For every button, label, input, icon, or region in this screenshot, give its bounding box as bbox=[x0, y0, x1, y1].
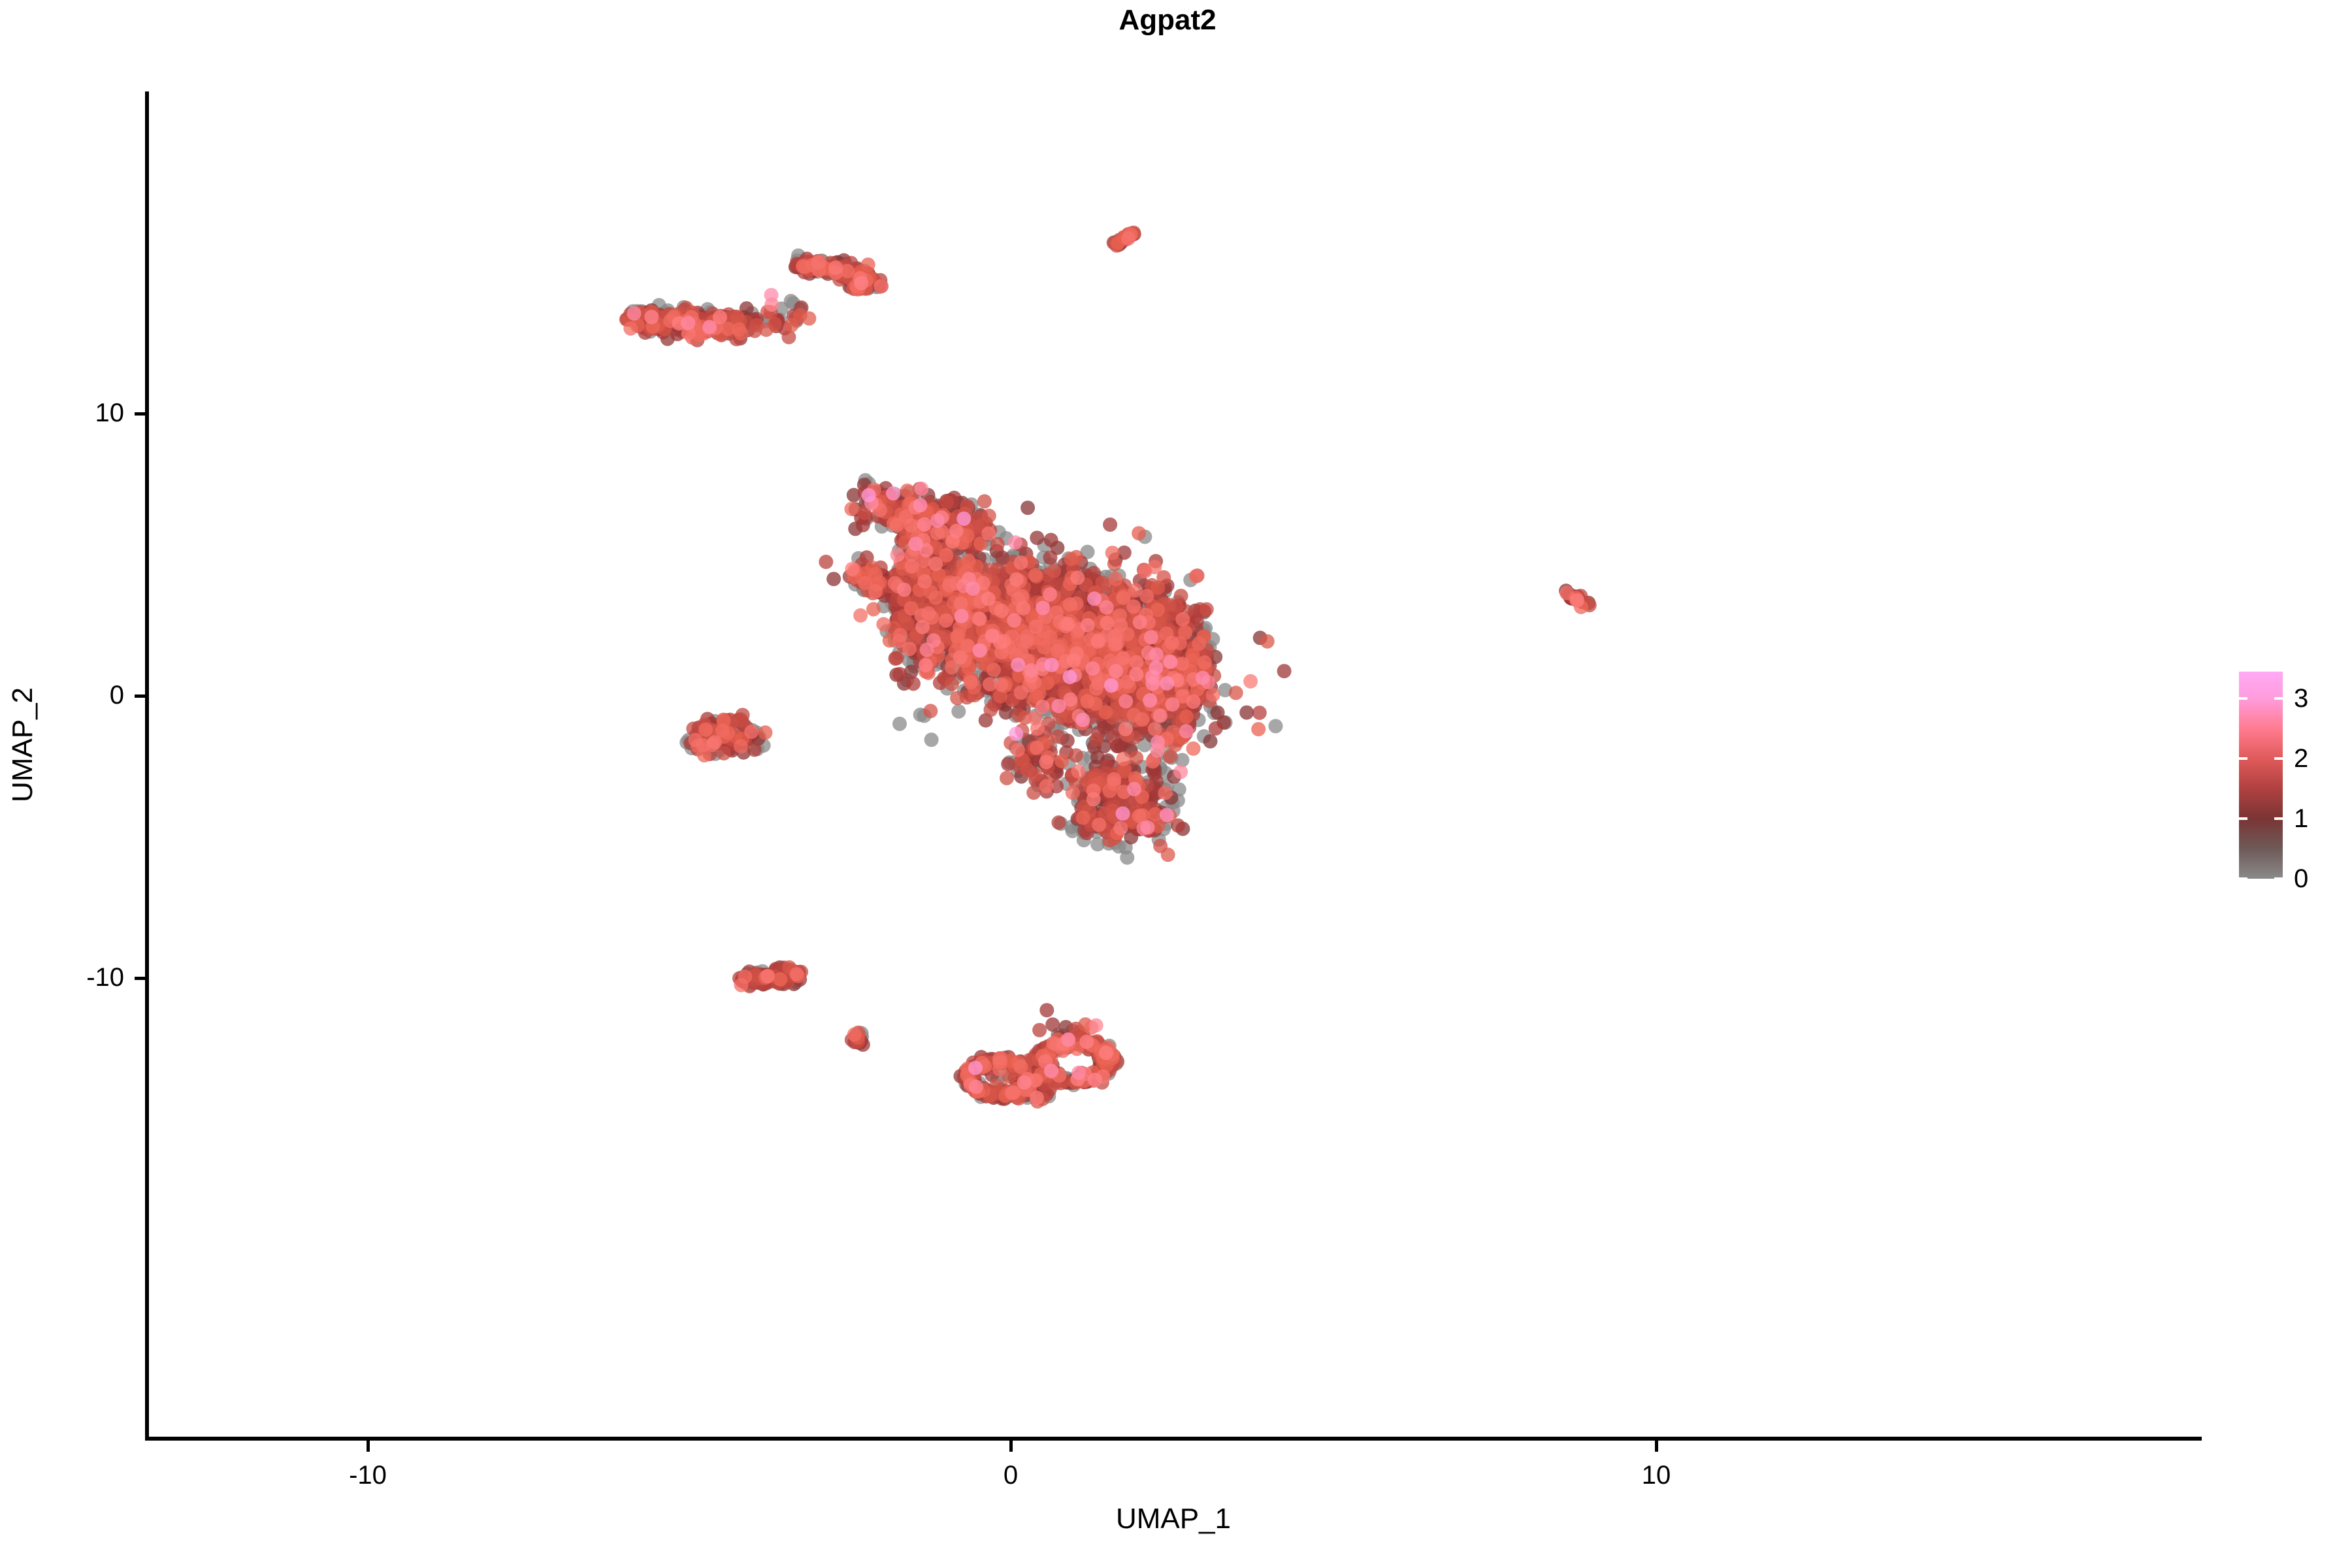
y-tick-mark-neg10 bbox=[135, 977, 146, 980]
y-axis-line bbox=[145, 91, 149, 1440]
colorbar-tick-3 bbox=[2239, 697, 2247, 700]
x-tick-label-10: 10 bbox=[1591, 1461, 1722, 1490]
scatter-points bbox=[149, 39, 2200, 1437]
x-tick-mark-neg10 bbox=[367, 1440, 370, 1452]
x-tick-mark-0 bbox=[1009, 1440, 1013, 1452]
x-tick-label-0: 0 bbox=[945, 1461, 1076, 1490]
colorbar-label-3: 3 bbox=[2294, 685, 2308, 711]
colorbar-tick-0 bbox=[2274, 877, 2283, 880]
colorbar-tick-2 bbox=[2274, 757, 2283, 760]
page-title: Agpat2 bbox=[0, 4, 2344, 37]
colorbar-legend[interactable]: 3210 bbox=[2239, 672, 2283, 879]
colorbar-tick-2 bbox=[2239, 757, 2247, 760]
plot-panel[interactable] bbox=[149, 39, 2200, 1437]
x-axis-title: UMAP_1 bbox=[145, 1503, 2202, 1535]
y-tick-label-neg10: -10 bbox=[13, 963, 124, 992]
y-axis-title: UMAP_2 bbox=[7, 549, 39, 941]
x-tick-mark-10 bbox=[1655, 1440, 1658, 1452]
colorbar-tick-1 bbox=[2239, 817, 2247, 820]
colorbar-label-2: 2 bbox=[2294, 745, 2308, 772]
umap-feature-plot: Agpat2 10 0 -10 -10 0 10 UMAP_1 UMAP_2 3… bbox=[0, 0, 2352, 1568]
x-axis-line bbox=[145, 1437, 2202, 1441]
x-tick-label-neg10: -10 bbox=[302, 1461, 433, 1490]
y-tick-mark-0 bbox=[135, 694, 146, 698]
colorbar-label-0: 0 bbox=[2294, 866, 2308, 892]
colorbar-tick-0 bbox=[2239, 877, 2247, 880]
y-tick-mark-10 bbox=[135, 412, 146, 416]
colorbar-gradient bbox=[2239, 672, 2283, 879]
colorbar-tick-3 bbox=[2274, 697, 2283, 700]
colorbar-label-1: 1 bbox=[2294, 806, 2308, 832]
colorbar-tick-1 bbox=[2274, 817, 2283, 820]
y-tick-label-10: 10 bbox=[13, 399, 124, 428]
